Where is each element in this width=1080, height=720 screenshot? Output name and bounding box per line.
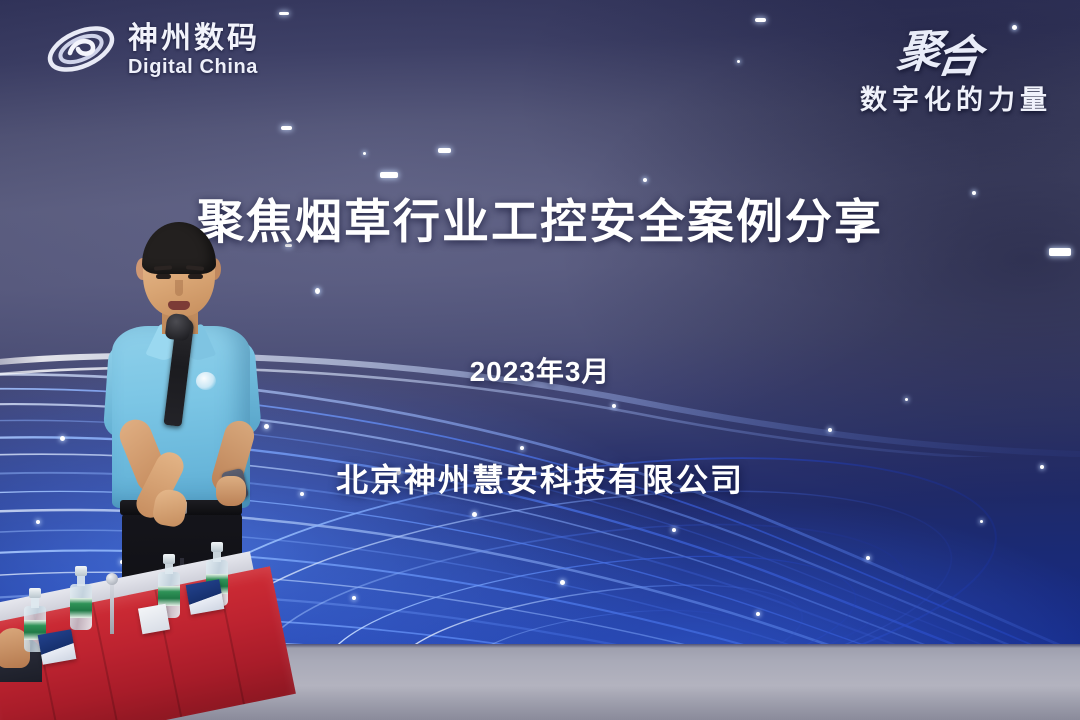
presenter-hand-right <box>216 476 246 506</box>
presenter-eye-right <box>188 274 203 279</box>
microphone-stand <box>110 582 114 634</box>
bottle-label <box>70 598 92 618</box>
name-card <box>138 604 170 634</box>
presenter-eye-left <box>156 274 171 279</box>
logo-chinese-text: 神州数码 <box>128 24 260 54</box>
digital-china-wordmark: 神州数码 Digital China <box>128 22 260 77</box>
skirt-fold <box>92 602 120 720</box>
bottle-cap <box>75 566 87 576</box>
bottle-cap <box>211 542 223 552</box>
shirt-logo-badge <box>196 372 216 390</box>
digital-china-logo: 神州数码 Digital China <box>44 18 260 80</box>
name-card <box>186 579 225 614</box>
presenter-mouth <box>168 301 190 310</box>
water-bottle <box>70 566 92 630</box>
microphone-head-icon <box>165 313 192 342</box>
presenter-nose <box>175 280 183 296</box>
spiral-swirl-logo-icon <box>44 18 118 80</box>
calligraphy-char-he: 合 <box>933 20 986 85</box>
logo-english-text: Digital China <box>128 57 260 77</box>
front-row-table <box>0 560 270 720</box>
bottle-cap <box>29 588 41 598</box>
event-theme-logo: 聚合 数字化的力量 <box>822 16 1052 117</box>
presenter-hair <box>142 222 216 274</box>
name-card <box>38 629 77 664</box>
bottle-label <box>158 586 180 606</box>
calligraphy-juhe: 聚合 <box>895 11 985 81</box>
calligraphy-block: 聚合 <box>822 16 1052 82</box>
conference-stage-photo: 神州数码 Digital China 聚合 数字化的力量 聚焦烟草行业工控安全案… <box>0 0 1080 720</box>
calligraphy-char-ju: 聚 <box>895 25 940 79</box>
bottle-cap <box>163 554 175 564</box>
microphone-stand-tip <box>106 573 118 585</box>
